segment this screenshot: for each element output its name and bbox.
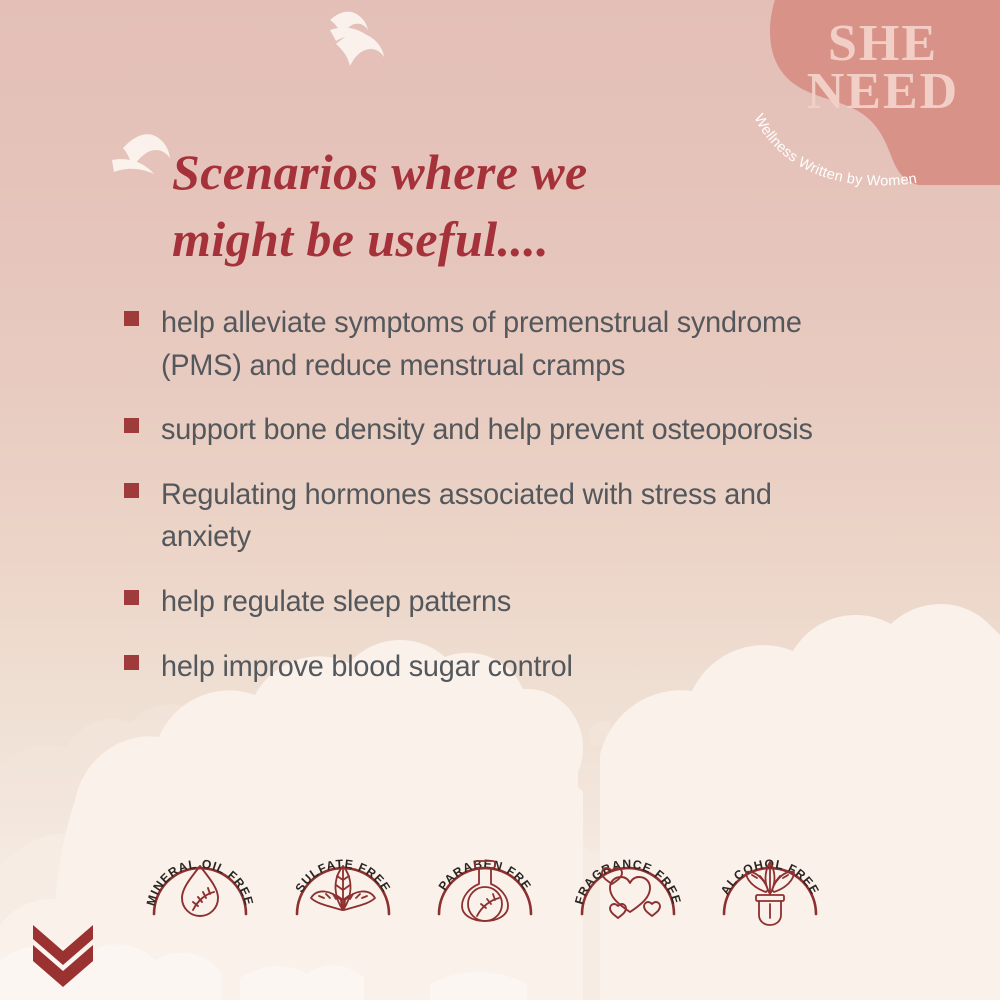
list-item: help regulate sleep patterns (124, 581, 914, 624)
square-bullet-icon (124, 311, 139, 326)
list-item-label: help regulate sleep patterns (161, 581, 511, 624)
page-title: Scenarios where we might be useful.... (172, 139, 792, 273)
square-bullet-icon (124, 655, 139, 670)
badge-mineral-oil-free: MINERAL OIL FREE (140, 818, 260, 933)
list-item-label: support bone density and help prevent os… (161, 409, 813, 452)
list-item: support bone density and help prevent os… (124, 409, 914, 452)
list-item: help improve blood sugar control (124, 646, 914, 689)
square-bullet-icon (124, 418, 139, 433)
list-item-label: help alleviate symptoms of premenstrual … (161, 302, 814, 387)
badge-fragrance-free: FRAGRANCE FREE (568, 818, 688, 933)
square-bullet-icon (124, 483, 139, 498)
list-item-label: Regulating hormones associated with stre… (161, 474, 814, 559)
list-item: Regulating hormones associated with stre… (124, 474, 914, 559)
page-title-line1: Scenarios where we (172, 139, 792, 206)
poster-canvas: SHE NEED Wellness Written by Women Scena… (0, 0, 1000, 1000)
double-chevron-logo[interactable] (33, 925, 93, 987)
page-title-line2: might be useful.... (172, 206, 792, 273)
badge-alcohol-free: ALCOHOL FREE (710, 818, 830, 933)
square-bullet-icon (124, 590, 139, 605)
benefits-list: help alleviate symptoms of premenstrual … (124, 302, 914, 710)
badge-sulfate-free: SULFATE FREE (283, 818, 403, 933)
droplet-leaf-icon (182, 866, 218, 916)
list-item: help alleviate symptoms of premenstrual … (124, 302, 914, 387)
list-item-label: help improve blood sugar control (161, 646, 573, 689)
certification-badges: MINERAL OIL FREE SULFATE FREE (140, 818, 830, 933)
badge-paraben-free: PARABEN FRE (425, 818, 545, 933)
